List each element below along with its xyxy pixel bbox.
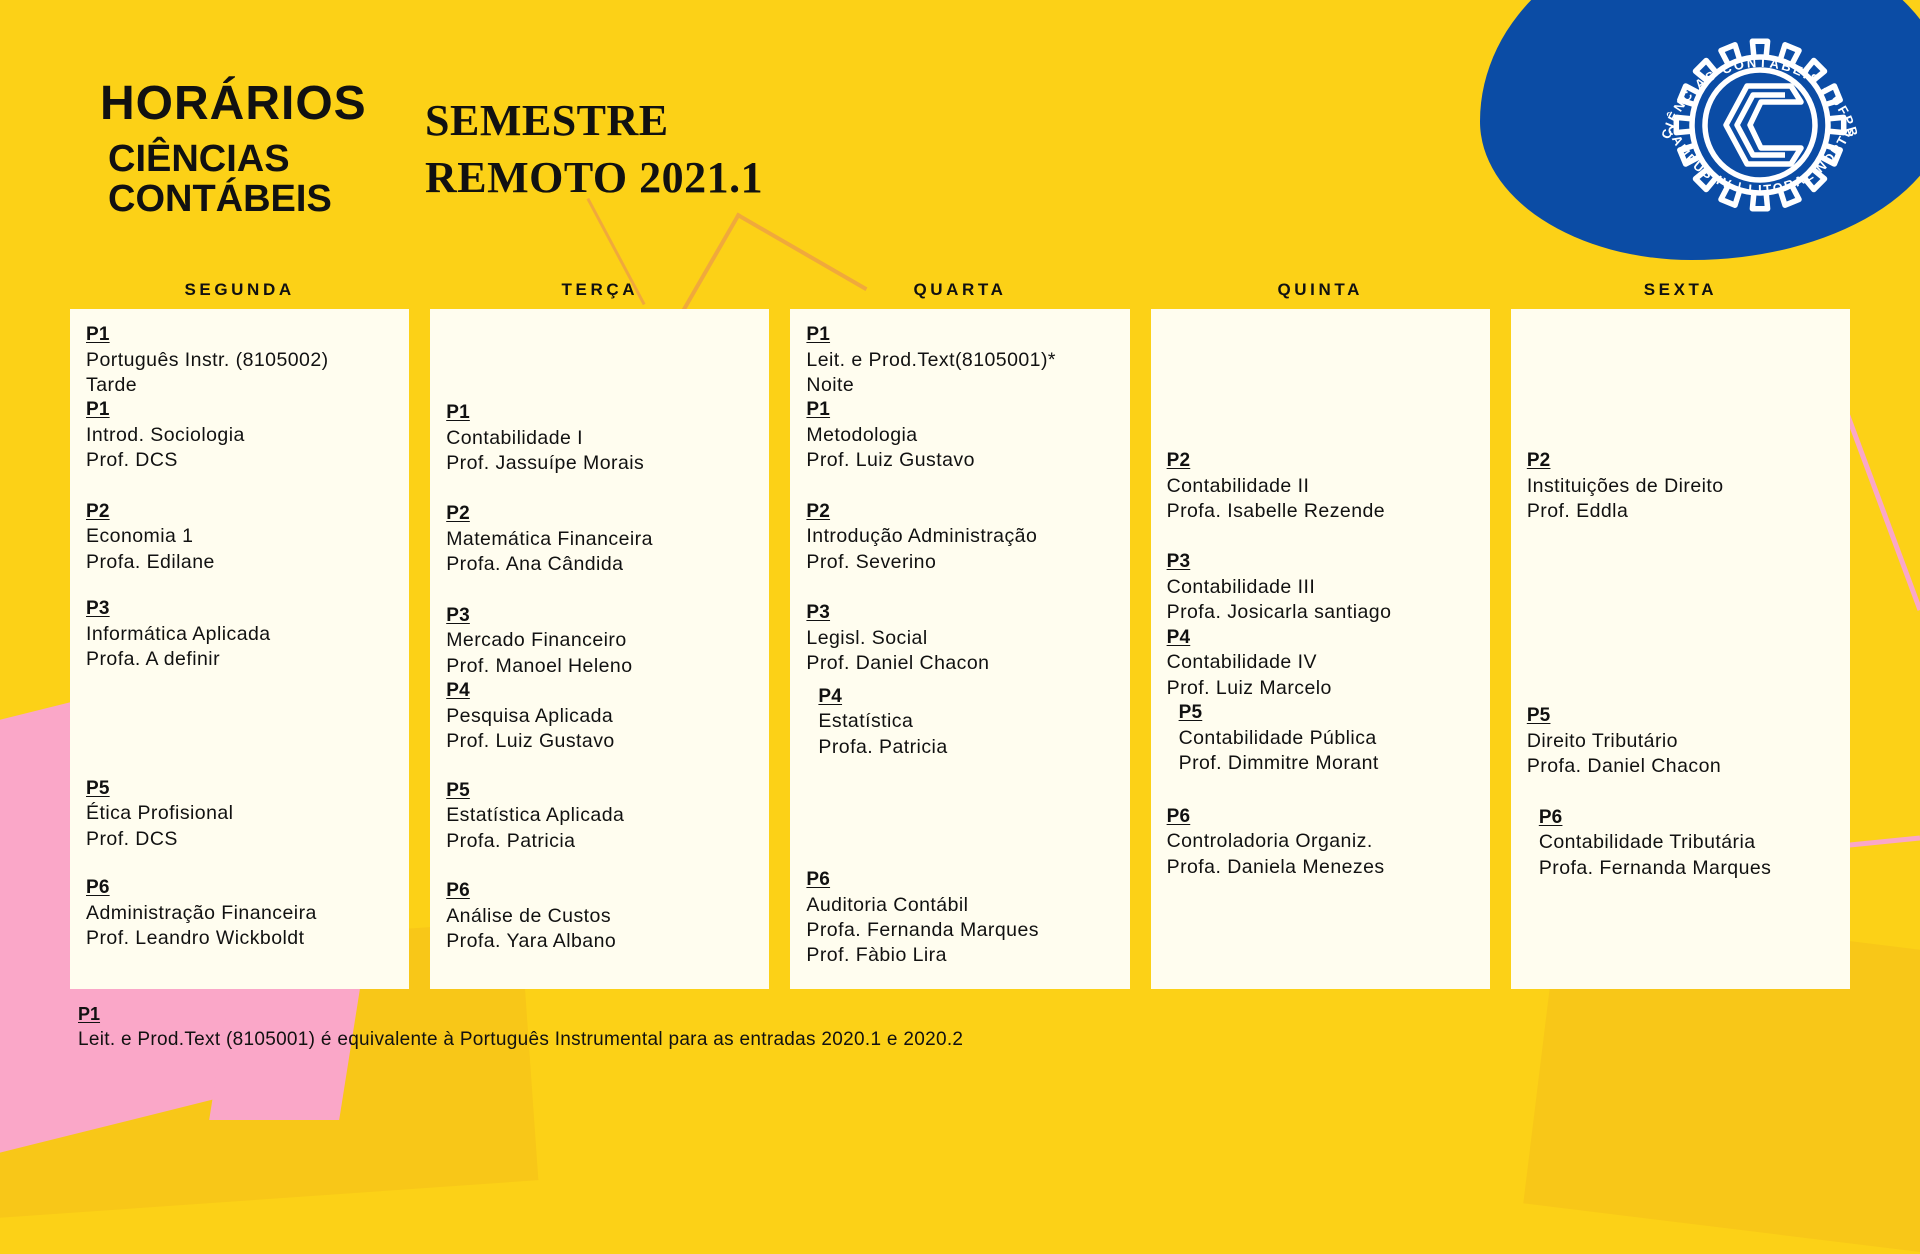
footnote-code: P1	[78, 1002, 963, 1027]
slot-professor-name: Prof. Luiz Gustavo	[446, 729, 757, 754]
slot-subject-name: Leit. e Prod.Text(8105001)*	[806, 348, 1117, 373]
class-slot: P1MetodologiaProf. Luiz Gustavo	[806, 398, 1117, 473]
slot-professor-name: Prof. Daniel Chacon	[806, 651, 1117, 676]
slot-professor-name: Prof. DCS	[86, 827, 397, 852]
slot-subject-name: Informática Aplicada	[86, 622, 397, 647]
slot-spacer	[1527, 524, 1838, 704]
page-title-line-3: CONTÁBEIS	[100, 179, 367, 219]
class-slot: P3Legisl. SocialProf. Daniel Chacon	[806, 601, 1117, 676]
day-card: P1Português Instr. (8105002)TardeP1Intro…	[70, 309, 409, 989]
class-slot: P2Matemática FinanceiraProfa. Ana Cândid…	[446, 502, 757, 577]
slot-professor-name: Prof. Eddla	[1527, 499, 1838, 524]
slot-subject-name: Economia 1	[86, 524, 397, 549]
slot-professor-name: Profa. Fernanda Marques	[806, 918, 1117, 943]
slot-period-code: P5	[1527, 704, 1838, 729]
semester-heading-line-2: REMOTO 2021.1	[425, 149, 763, 206]
class-slot: P5Estatística AplicadaProfa. Patricia	[446, 779, 757, 854]
slot-professor-name: Tarde	[86, 373, 397, 398]
class-slot: P6Controladoria Organiz.Profa. Daniela M…	[1167, 805, 1478, 880]
slot-period-code: P2	[806, 500, 1117, 525]
slot-subject-name: Contabilidade III	[1167, 575, 1478, 600]
class-slot: P3Mercado FinanceiroProf. Manoel Heleno	[446, 604, 757, 679]
slot-period-code: P6	[806, 868, 1117, 893]
slot-subject-name: Análise de Custos	[446, 904, 757, 929]
class-slot: P1Português Instr. (8105002)Tarde	[86, 323, 397, 398]
slot-period-code: P3	[806, 601, 1117, 626]
slot-subject-name: Contabilidade IV	[1167, 650, 1478, 675]
slot-period-code: P2	[86, 500, 397, 525]
slot-professor-name: Prof. Luiz Gustavo	[806, 448, 1117, 473]
slot-period-code: P6	[1167, 805, 1478, 830]
slot-subject-name: Português Instr. (8105002)	[86, 348, 397, 373]
slot-professor-name: Prof. Leandro Wickboldt	[86, 926, 397, 951]
slot-spacer	[86, 474, 397, 500]
schedule-grid: SEGUNDAP1Português Instr. (8105002)Tarde…	[0, 280, 1920, 989]
day-card: P2Instituições de DireitoProf. EddlaP5Di…	[1511, 309, 1850, 989]
slot-subject-name: Legisl. Social	[806, 626, 1117, 651]
class-slot: P2Instituições de DireitoProf. Eddla	[1527, 449, 1838, 524]
slot-subject-name: Matemática Financeira	[446, 527, 757, 552]
slot-spacer	[446, 854, 757, 879]
slot-period-code: P5	[1179, 701, 1478, 726]
class-slot: P1Leit. e Prod.Text(8105001)*Noite	[806, 323, 1117, 398]
day-header-quinta: QUINTA	[1151, 280, 1490, 309]
slot-professor-name: Prof. Luiz Marcelo	[1167, 676, 1478, 701]
slot-subject-name: Contabilidade Pública	[1179, 726, 1478, 751]
day-header-terça: TERÇA	[430, 280, 769, 309]
page-title-line-2: CIÊNCIAS	[100, 139, 367, 179]
slot-subject-name: Introdução Administração	[806, 524, 1117, 549]
slot-professor-name: Profa. Patricia	[818, 735, 1117, 760]
day-card: P1Contabilidade IProf. Jassuípe MoraisP2…	[430, 309, 769, 989]
slot-period-code: P5	[86, 777, 397, 802]
slot-period-code: P6	[86, 876, 397, 901]
slot-subject-name: Instituições de Direito	[1527, 474, 1838, 499]
day-column-quarta: QUARTAP1Leit. e Prod.Text(8105001)*Noite…	[790, 280, 1129, 989]
footnote: P1 Leit. e Prod.Text (8105001) é equival…	[78, 1002, 963, 1054]
slot-professor-name: Profa. Daniela Menezes	[1167, 855, 1478, 880]
class-slot: P6Contabilidade TributáriaProfa. Fernand…	[1527, 806, 1838, 881]
class-slot: P6Auditoria ContábilProfa. Fernanda Marq…	[806, 868, 1117, 969]
footnote-text: Leit. e Prod.Text (8105001) é equivalent…	[78, 1027, 963, 1054]
page-title: HORÁRIOS CIÊNCIAS CONTÁBEIS	[100, 80, 367, 219]
class-slot: P5Direito TributárioProfa. Daniel Chacon	[1527, 704, 1838, 779]
day-column-quinta: QUINTAP2Contabilidade IIProfa. Isabelle …	[1151, 280, 1490, 989]
slot-professor-name: Prof. DCS	[86, 448, 397, 473]
slot-subject-name: Contabilidade I	[446, 426, 757, 451]
class-slot: P4Contabilidade IVProf. Luiz Marcelo	[1167, 626, 1478, 701]
slot-professor-name: Prof. Fàbio Lira	[806, 943, 1117, 968]
slot-spacer	[806, 677, 1117, 685]
slot-subject-name: Introd. Sociologia	[86, 423, 397, 448]
slot-period-code: P2	[1167, 449, 1478, 474]
slot-subject-name: Auditoria Contábil	[806, 893, 1117, 918]
class-slot: P2Economia 1Profa. Edilane	[86, 500, 397, 575]
day-column-sexta: SEXTAP2Instituições de DireitoProf. Eddl…	[1511, 280, 1850, 989]
slot-subject-name: Pesquisa Aplicada	[446, 704, 757, 729]
slot-spacer	[86, 852, 397, 876]
slot-subject-name: Contabilidade Tributária	[1539, 830, 1838, 855]
slot-spacer	[806, 575, 1117, 601]
slot-subject-name: Metodologia	[806, 423, 1117, 448]
slot-professor-name: Prof. Severino	[806, 550, 1117, 575]
slot-period-code: P1	[86, 323, 397, 348]
slot-subject-name: Estatística Aplicada	[446, 803, 757, 828]
slot-period-code: P4	[818, 685, 1117, 710]
class-slot: P6Administração FinanceiraProf. Leandro …	[86, 876, 397, 951]
slot-professor-name: Profa. Isabelle Rezende	[1167, 499, 1478, 524]
slot-period-code: P6	[1539, 806, 1838, 831]
slot-period-code: P3	[446, 604, 757, 629]
slot-subject-name: Direito Tributário	[1527, 729, 1838, 754]
slot-spacer	[806, 474, 1117, 500]
slot-spacer	[1527, 323, 1838, 449]
slot-subject-name: Controladoria Organiz.	[1167, 829, 1478, 854]
slot-professor-name: Profa. A definir	[86, 647, 397, 672]
slot-professor-name: Prof. Manoel Heleno	[446, 654, 757, 679]
semester-heading: SEMESTRE REMOTO 2021.1	[425, 92, 763, 206]
slot-period-code: P4	[446, 679, 757, 704]
slot-period-code: P1	[806, 398, 1117, 423]
slot-spacer	[1167, 777, 1478, 805]
slot-spacer	[1167, 524, 1478, 550]
slot-spacer	[446, 755, 757, 779]
slot-spacer	[1167, 323, 1478, 449]
class-slot: P3Informática AplicadaProfa. A definir	[86, 597, 397, 672]
slot-professor-name: Profa. Edilane	[86, 550, 397, 575]
gear-emblem-icon: CIÊNCIAS CONTÁBEIS - UFPB CAMPUS IV | LI…	[1635, 0, 1885, 250]
day-header-sexta: SEXTA	[1511, 280, 1850, 309]
class-slot: P4EstatísticaProfa. Patricia	[806, 685, 1117, 760]
slot-professor-name: Profa. Ana Cândida	[446, 552, 757, 577]
day-header-quarta: QUARTA	[790, 280, 1129, 309]
class-slot: P1Introd. SociologiaProf. DCS	[86, 398, 397, 473]
day-header-segunda: SEGUNDA	[70, 280, 409, 309]
class-slot: P6Análise de CustosProfa. Yara Albano	[446, 879, 757, 954]
slot-spacer	[446, 323, 757, 401]
slot-subject-name: Contabilidade II	[1167, 474, 1478, 499]
slot-spacer	[446, 476, 757, 502]
slot-period-code: P4	[1167, 626, 1478, 651]
slot-spacer	[86, 673, 397, 777]
slot-spacer	[446, 578, 757, 604]
slot-professor-name: Noite	[806, 373, 1117, 398]
day-column-segunda: SEGUNDAP1Português Instr. (8105002)Tarde…	[70, 280, 409, 989]
slot-period-code: P6	[446, 879, 757, 904]
slot-professor-name: Profa. Yara Albano	[446, 929, 757, 954]
slot-subject-name: Ética Profisional	[86, 801, 397, 826]
slot-professor-name: Profa. Fernanda Marques	[1539, 856, 1838, 881]
class-slot: P2Contabilidade IIProfa. Isabelle Rezend…	[1167, 449, 1478, 524]
slot-period-code: P1	[806, 323, 1117, 348]
slot-spacer	[806, 760, 1117, 868]
class-slot: P2Introdução AdministraçãoProf. Severino	[806, 500, 1117, 575]
slot-professor-name: Profa. Patricia	[446, 829, 757, 854]
class-slot: P3Contabilidade IIIProfa. Josicarla sant…	[1167, 550, 1478, 625]
slot-professor-name: Prof. Dimmitre Morant	[1179, 751, 1478, 776]
day-card: P1Leit. e Prod.Text(8105001)*NoiteP1Meto…	[790, 309, 1129, 989]
slot-period-code: P5	[446, 779, 757, 804]
slot-professor-name: Prof. Jassuípe Morais	[446, 451, 757, 476]
slot-spacer	[1527, 780, 1838, 806]
slot-period-code: P3	[1167, 550, 1478, 575]
slot-period-code: P3	[86, 597, 397, 622]
slot-professor-name: Profa. Josicarla santiago	[1167, 600, 1478, 625]
slot-professor-name: Profa. Daniel Chacon	[1527, 754, 1838, 779]
day-card: P2Contabilidade IIProfa. Isabelle Rezend…	[1151, 309, 1490, 989]
slot-period-code: P2	[446, 502, 757, 527]
class-slot: P1Contabilidade IProf. Jassuípe Morais	[446, 401, 757, 476]
slot-subject-name: Estatística	[818, 709, 1117, 734]
slot-period-code: P1	[86, 398, 397, 423]
semester-heading-line-1: SEMESTRE	[425, 92, 763, 149]
class-slot: P5Contabilidade PúblicaProf. Dimmitre Mo…	[1167, 701, 1478, 776]
slot-subject-name: Mercado Financeiro	[446, 628, 757, 653]
slot-period-code: P1	[446, 401, 757, 426]
slot-subject-name: Administração Financeira	[86, 901, 397, 926]
class-slot: P5Ética ProfisionalProf. DCS	[86, 777, 397, 852]
class-slot: P4Pesquisa AplicadaProf. Luiz Gustavo	[446, 679, 757, 754]
slot-period-code: P2	[1527, 449, 1838, 474]
day-column-terça: TERÇAP1Contabilidade IProf. Jassuípe Mor…	[430, 280, 769, 989]
slot-spacer	[86, 575, 397, 597]
page-title-line-1: HORÁRIOS	[100, 80, 367, 129]
